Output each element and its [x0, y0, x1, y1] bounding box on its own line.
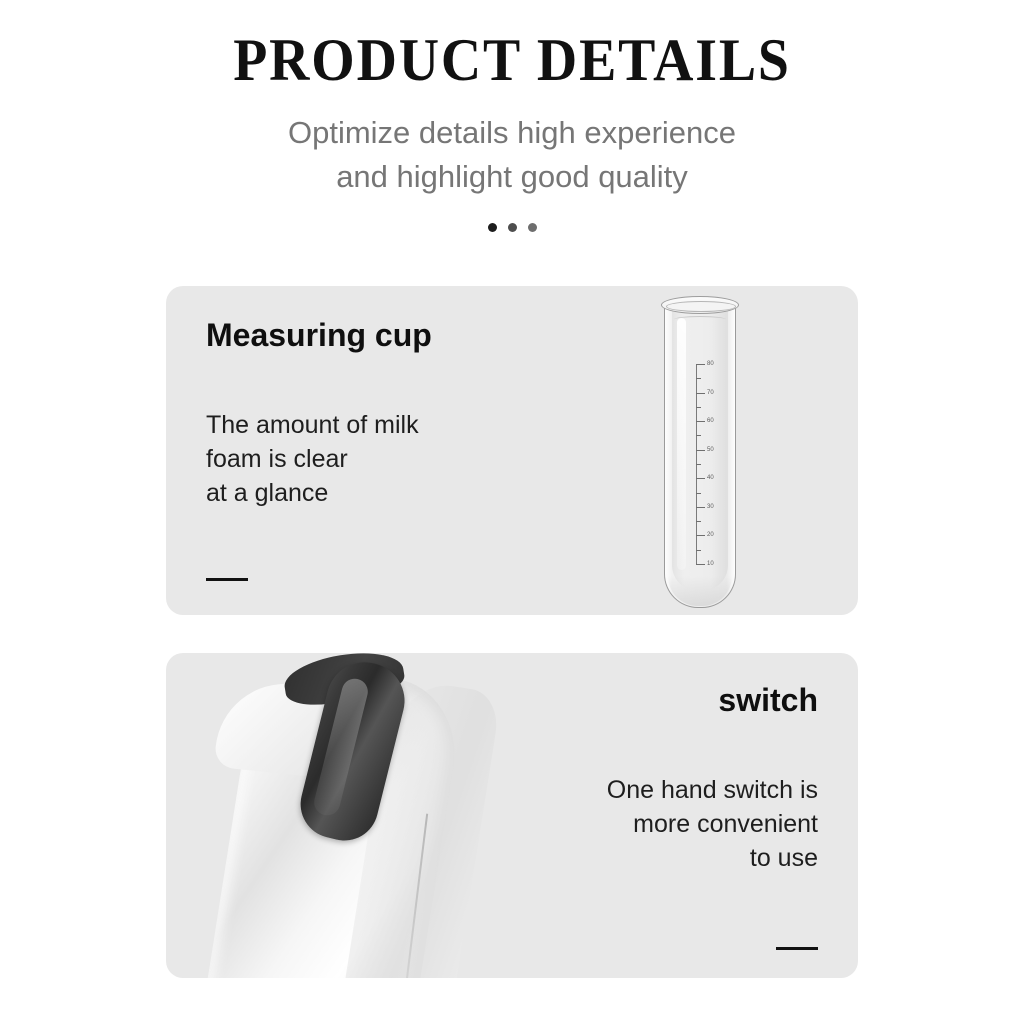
scale-tick-label: 70 [707, 390, 714, 396]
card-text-block: Measuring cup The amount of milk foam is… [166, 286, 596, 615]
card-title: switch [428, 681, 818, 719]
scale-tick-label: 20 [707, 532, 714, 538]
scale-tick-minor [696, 407, 701, 408]
scale-tick-major [696, 393, 705, 394]
scale-tick-minor [696, 521, 701, 522]
feature-card-switch: switch One hand switch is more convenien… [166, 653, 858, 978]
card-body-line-3: to use [428, 841, 818, 875]
dot-icon-1 [488, 223, 497, 232]
scale-tick-major [696, 478, 705, 479]
scale-tick-label: 50 [707, 447, 714, 453]
card-body-line-2: foam is clear [206, 442, 596, 476]
card-body: The amount of milk foam is clear at a gl… [206, 354, 596, 510]
measuring-cup-image: 8070605040302010 [646, 290, 756, 615]
card-body-line-1: The amount of milk [206, 408, 596, 442]
card-body-line-2: more convenient [428, 807, 818, 841]
dots-separator [0, 223, 1024, 232]
feature-card-measuring-cup: Measuring cup The amount of milk foam is… [166, 286, 858, 615]
card-title: Measuring cup [206, 316, 596, 354]
subtitle-line-2: and highlight good quality [0, 155, 1024, 199]
card-body-line-1: One hand switch is [428, 773, 818, 807]
cup-graphic: 8070605040302010 [664, 296, 736, 608]
scale-tick-major [696, 564, 705, 565]
cup-rim [661, 296, 739, 314]
card-body: One hand switch is more convenient to us… [428, 719, 818, 875]
scale-tick-label: 10 [707, 561, 714, 567]
scale-tick-minor [696, 550, 701, 551]
cup-neck-line [674, 316, 726, 323]
scale-tick-minor [696, 435, 701, 436]
accent-rule [776, 947, 818, 950]
scale-tick-minor [696, 378, 701, 379]
scale-tick-major [696, 535, 705, 536]
cup-highlight [677, 318, 686, 570]
scale-tick-major [696, 507, 705, 508]
scale-tick-label: 60 [707, 418, 714, 424]
dot-icon-3 [528, 223, 537, 232]
scale-tick-major [696, 364, 705, 365]
cup-measurement-scale: 8070605040302010 [696, 364, 736, 564]
dot-icon-2 [508, 223, 517, 232]
scale-tick-minor [696, 464, 701, 465]
scale-tick-major [696, 421, 705, 422]
accent-rule [206, 578, 248, 581]
page-header: PRODUCT DETAILS Optimize details high ex… [0, 0, 1024, 232]
scale-tick-label: 30 [707, 504, 714, 510]
page-title: PRODUCT DETAILS [36, 0, 988, 95]
scale-tick-label: 80 [707, 361, 714, 367]
cup-rim-inner [666, 301, 736, 312]
card-body-line-3: at a glance [206, 476, 596, 510]
page-subtitle: Optimize details high experience and hig… [0, 95, 1024, 199]
scale-tick-major [696, 450, 705, 451]
scale-tick-minor [696, 493, 701, 494]
scale-tick-label: 40 [707, 475, 714, 481]
product-details-page: PRODUCT DETAILS Optimize details high ex… [0, 0, 1024, 1024]
subtitle-line-1: Optimize details high experience [0, 111, 1024, 155]
card-text-block: switch One hand switch is more convenien… [428, 653, 858, 978]
